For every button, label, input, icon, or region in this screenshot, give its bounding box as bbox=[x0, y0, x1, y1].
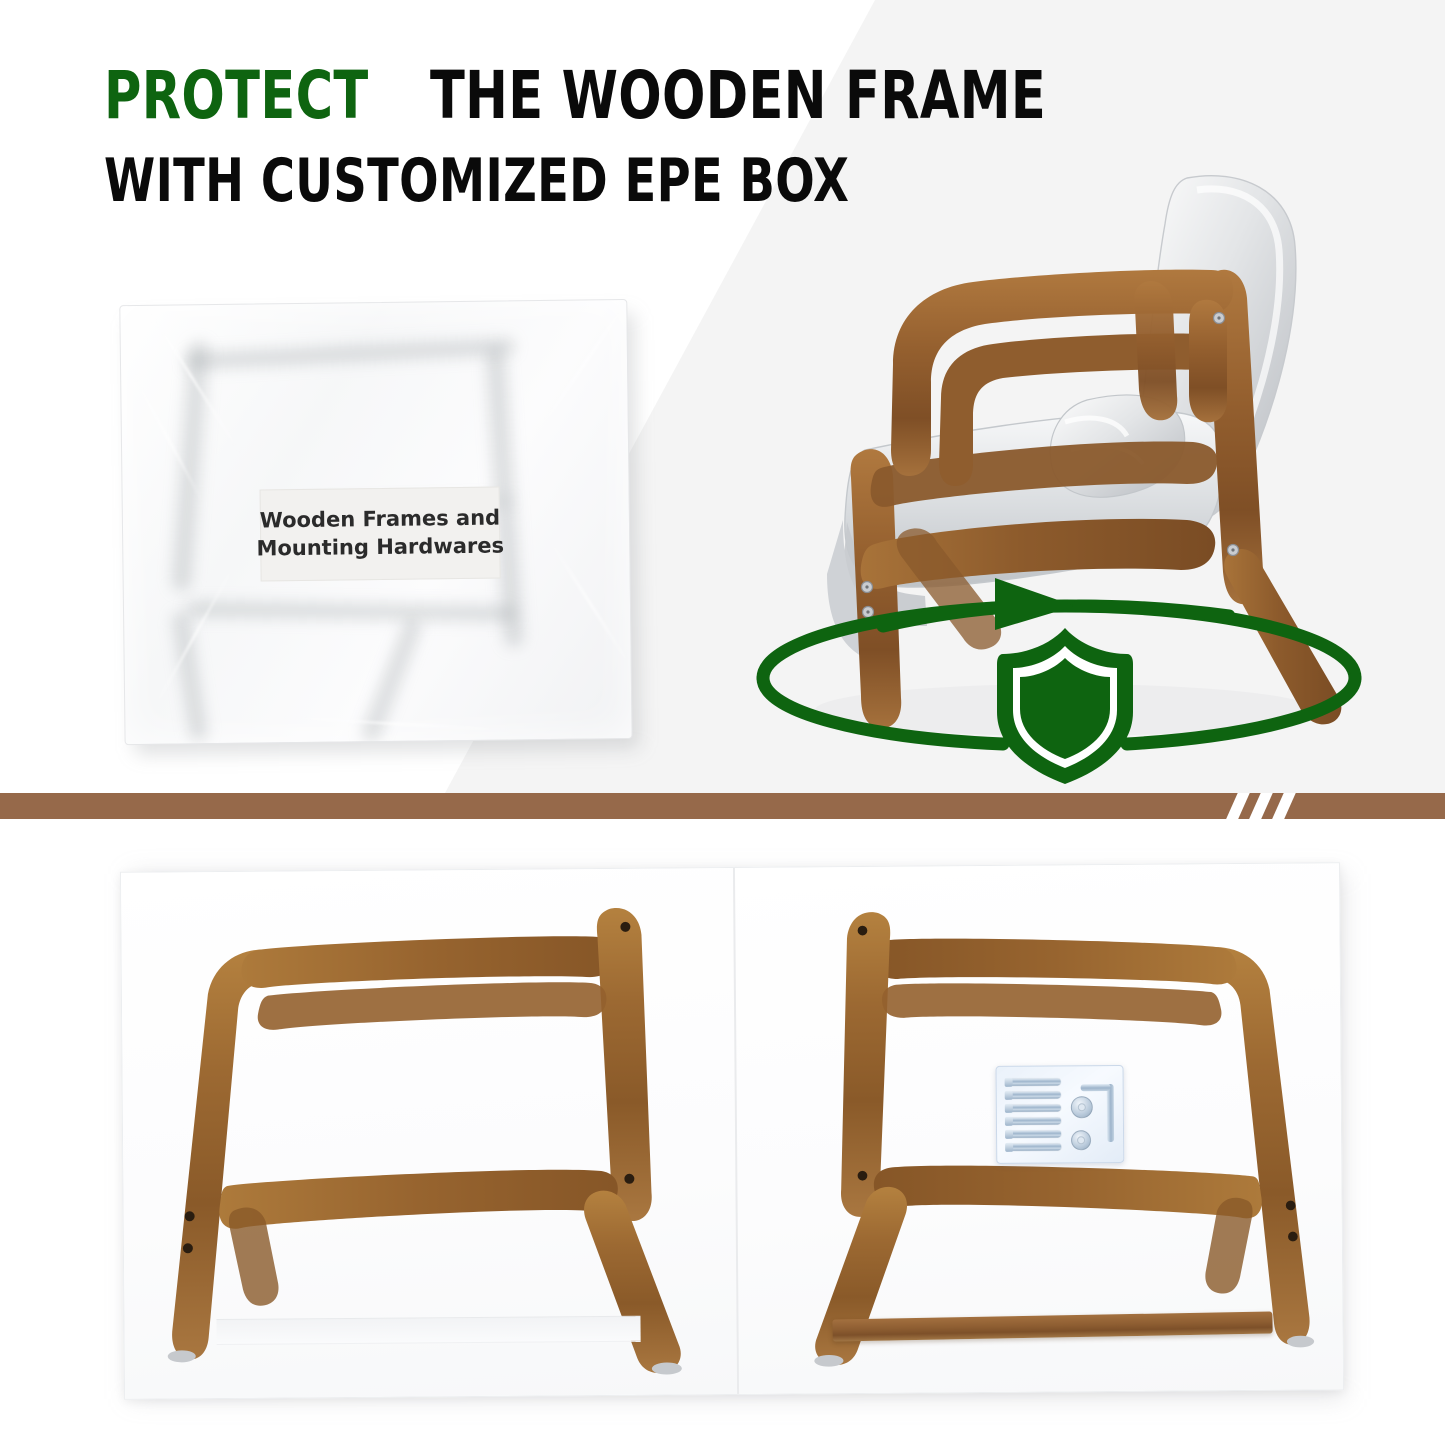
hardware-bag bbox=[995, 1065, 1124, 1164]
bolt-hole bbox=[183, 1243, 193, 1253]
bolt-hole bbox=[858, 1171, 868, 1181]
foam-crossbar-slot bbox=[216, 1316, 640, 1345]
divider-slash bbox=[1270, 793, 1298, 819]
epe-box-package: Wooden Frames and Mounting Hardwares bbox=[119, 299, 640, 753]
headline-line-1: PROTECTTHE WOODEN FRAME bbox=[104, 62, 1146, 129]
headline-block: PROTECTTHE WOODEN FRAME WITH CUSTOMIZED … bbox=[104, 62, 1146, 211]
bolt-head bbox=[1005, 1130, 1013, 1139]
headline-line-2: WITH CUSTOMIZED EPE BOX bbox=[104, 151, 1146, 211]
bolt-hole bbox=[1286, 1201, 1296, 1211]
film-wrinkle bbox=[548, 538, 631, 665]
film-wrinkle bbox=[537, 299, 632, 432]
promo-image-root: PROTECTTHE WOODEN FRAME WITH CUSTOMIZED … bbox=[0, 0, 1445, 1445]
bolt bbox=[1009, 1078, 1061, 1085]
washer-hole bbox=[1077, 1136, 1085, 1144]
left-side-frame bbox=[147, 882, 737, 1387]
bolt-head bbox=[1005, 1117, 1013, 1126]
headline-keyword-protect: PROTECT bbox=[104, 63, 369, 129]
top-section: PROTECTTHE WOODEN FRAME WITH CUSTOMIZED … bbox=[0, 0, 1445, 793]
headline-line-2-text: WITH CUSTOMIZED EPE BOX bbox=[104, 151, 849, 211]
rotation-arrow-head bbox=[995, 578, 1075, 630]
film-wrinkle bbox=[286, 716, 506, 731]
right-frame-top-rail bbox=[872, 936, 1237, 987]
left-frame-top-rail bbox=[241, 936, 616, 988]
bolt-hole bbox=[858, 926, 868, 936]
left-frame-inner-rail bbox=[257, 982, 606, 1030]
epe-label-line-2: Mounting Hardwares bbox=[256, 532, 504, 563]
right-frame-middle-rail bbox=[874, 1163, 1262, 1221]
frame-silhouette-part bbox=[185, 338, 515, 371]
foam-tray-photo bbox=[120, 862, 1344, 1400]
frame-silhouette-part bbox=[186, 601, 516, 622]
protection-overlay bbox=[735, 560, 1375, 790]
protect-ring-svg bbox=[735, 560, 1375, 790]
epe-label-line-1: Wooden Frames and bbox=[260, 505, 501, 536]
epe-box-label-sticker: Wooden Frames and Mounting Hardwares bbox=[260, 487, 501, 582]
rotation-ring-front-right bbox=[1127, 678, 1355, 744]
divider-slash bbox=[1247, 793, 1275, 819]
bolt-head bbox=[1005, 1143, 1013, 1152]
allen-key-head bbox=[1081, 1084, 1111, 1091]
bolt-hole bbox=[624, 1174, 634, 1184]
bolt bbox=[1009, 1130, 1061, 1137]
frame-silhouette-part bbox=[171, 341, 210, 592]
section-divider-bar bbox=[0, 793, 1445, 819]
bottom-section bbox=[0, 819, 1445, 1445]
protection-shield-icon bbox=[997, 628, 1133, 784]
washer-hole bbox=[1078, 1103, 1086, 1111]
bolt-head bbox=[1005, 1091, 1013, 1100]
bolt bbox=[1009, 1104, 1061, 1111]
headline-line-1-rest: THE WOODEN FRAME bbox=[430, 63, 1046, 129]
bolt-hole bbox=[185, 1211, 195, 1221]
rotation-arrow-tail bbox=[1079, 606, 1229, 616]
frame-silhouette-part bbox=[171, 611, 208, 742]
bolt-hole bbox=[1288, 1232, 1298, 1242]
rotation-ring-front-left bbox=[763, 678, 1003, 744]
bolt bbox=[1009, 1117, 1061, 1124]
allen-key-shaft bbox=[1107, 1084, 1114, 1142]
bolt-hole bbox=[620, 922, 630, 932]
right-frame-inner-rail bbox=[882, 981, 1222, 1028]
bolt bbox=[1009, 1143, 1061, 1150]
chair-back-stile bbox=[1134, 281, 1177, 420]
divider-slash bbox=[1224, 793, 1252, 819]
bolt-head bbox=[1005, 1104, 1013, 1113]
left-frame-middle-rail bbox=[219, 1169, 618, 1229]
bolt-head bbox=[1005, 1078, 1013, 1087]
bolt bbox=[1009, 1091, 1061, 1098]
